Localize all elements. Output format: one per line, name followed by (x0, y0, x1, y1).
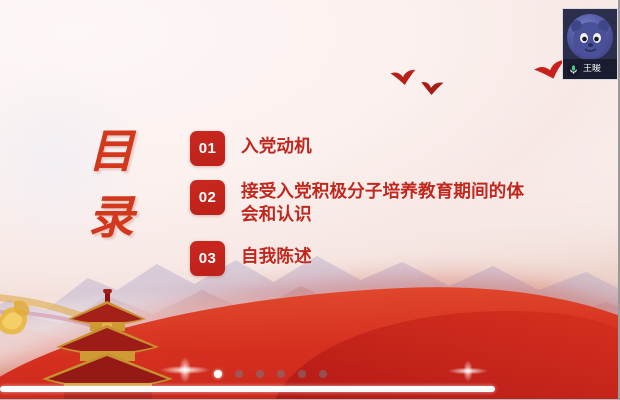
table-of-contents-list: 01 入党动机 02 接受入党积极分子培养教育期间的体会和认识 03 自我陈述 (190, 131, 530, 276)
gold-ornament (0, 296, 42, 340)
pagination-dot-4[interactable] (277, 370, 285, 378)
toc-item-02[interactable]: 02 接受入党积极分子培养教育期间的体会和认识 (190, 180, 530, 227)
presentation-slide-viewer: 目 录 01 入党动机 02 接受入党积极分子培养教育期间的体会和认识 03 自… (0, 0, 620, 400)
sparkle-right (440, 356, 496, 386)
avatar (567, 14, 613, 60)
progress-bar-fill (0, 386, 495, 392)
pagination-dot-6[interactable] (319, 370, 327, 378)
toc-item-label: 自我陈述 (241, 241, 312, 269)
temple-of-heaven-icon (28, 289, 188, 399)
pagination-dot-5[interactable] (298, 370, 306, 378)
toc-number-badge: 01 (190, 131, 225, 166)
microphone-icon[interactable] (567, 63, 580, 76)
slide-title-char-2: 录 (88, 184, 176, 250)
pagination-dot-3[interactable] (256, 370, 264, 378)
participant-video-thumbnail[interactable]: 王暖 (562, 8, 618, 80)
participant-name: 王暖 (583, 64, 601, 74)
toc-item-03[interactable]: 03 自我陈述 (190, 241, 530, 276)
slide-title-char-1: 目 (88, 118, 176, 184)
toc-item-01[interactable]: 01 入党动机 (190, 131, 530, 166)
toc-item-label: 接受入党积极分子培养教育期间的体会和认识 (241, 180, 530, 227)
participant-info-bar: 王暖 (563, 59, 617, 79)
bird-icon (389, 67, 419, 88)
toc-item-label: 入党动机 (241, 131, 312, 159)
pagination-dot-2[interactable] (235, 370, 243, 378)
slide-title: 目 录 (88, 118, 176, 250)
slide-pagination-dots[interactable] (214, 370, 327, 378)
toc-number-badge: 03 (190, 241, 225, 276)
pagination-dot-1[interactable] (214, 370, 222, 378)
progress-bar-track[interactable] (0, 386, 620, 392)
bird-icon (419, 79, 444, 97)
toc-number-badge: 02 (190, 180, 225, 215)
